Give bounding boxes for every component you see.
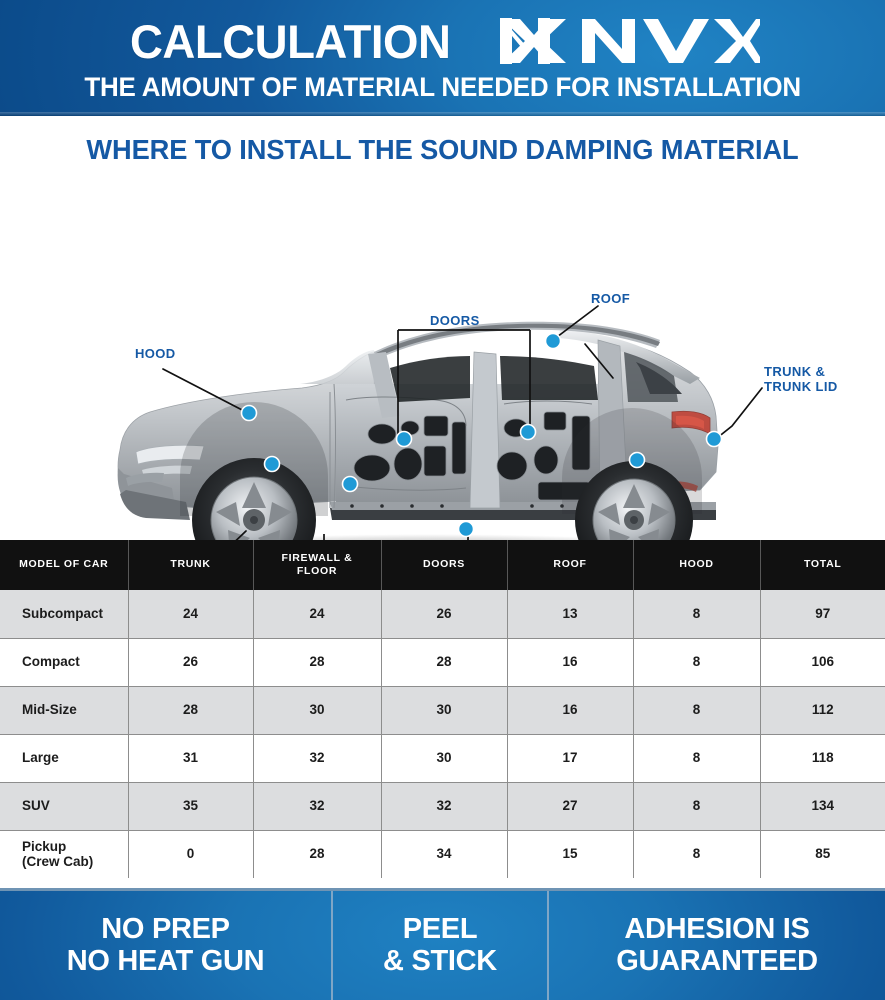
cell-hood: 8 [633, 590, 760, 638]
column-header-hood: HOOD [633, 540, 760, 590]
footer-cell-no-prep: NO PREP NO HEAT GUN [0, 891, 333, 1000]
cell-model-line1: Pickup [22, 839, 128, 855]
callout-trunk-line1: TRUNK & [764, 365, 838, 380]
cell-doors: 34 [381, 830, 507, 878]
column-header-doors-line1: DOORS [384, 558, 505, 571]
diagram-section: WHERE TO INSTALL THE SOUND DAMPING MATER… [0, 116, 885, 540]
table-row: Pickup (Crew Cab) 0 28 34 15 8 85 [0, 830, 885, 878]
table-row: Compact 26 28 28 16 8 106 [0, 638, 885, 686]
column-header-total: TOTAL [760, 540, 885, 590]
cell-model: Subcompact [0, 590, 128, 638]
cell-trunk: 26 [128, 638, 253, 686]
cell-model-line1: SUV [22, 798, 128, 814]
cell-hood: 8 [633, 830, 760, 878]
cell-doors: 26 [381, 590, 507, 638]
callout-doors: DOORS [430, 314, 480, 329]
cell-hood: 8 [633, 734, 760, 782]
cell-model-line1: Subcompact [22, 606, 128, 622]
cell-trunk: 0 [128, 830, 253, 878]
cell-firewall-floor: 28 [253, 638, 381, 686]
column-header-total-line1: TOTAL [763, 558, 884, 571]
cell-trunk: 31 [128, 734, 253, 782]
table-header-row: MODEL OF CAR TRUNK FIREWALL & FLOOR DOOR… [0, 540, 885, 590]
cell-model: Large [0, 734, 128, 782]
column-header-hood-line1: HOOD [636, 558, 758, 571]
cell-model-line1: Compact [22, 654, 128, 670]
footer-adhesion-line2: GUARANTEED [616, 946, 818, 977]
callout-roof: ROOF [591, 292, 630, 307]
header-title-row: CALCULATION [0, 10, 885, 72]
callout-hood: HOOD [135, 347, 176, 362]
column-header-doors: DOORS [381, 540, 507, 590]
footer-peel-line1: PEEL [403, 914, 478, 945]
column-header-roof-line1: ROOF [510, 558, 631, 571]
column-header-model-line1: MODEL OF CAR [2, 558, 126, 571]
cell-roof: 15 [507, 830, 633, 878]
column-header-roof: ROOF [507, 540, 633, 590]
cell-total: 112 [760, 686, 885, 734]
cell-model: Pickup (Crew Cab) [0, 830, 128, 878]
cell-hood: 8 [633, 782, 760, 830]
cell-roof: 17 [507, 734, 633, 782]
cell-doors: 32 [381, 782, 507, 830]
footer-adhesion-line1: ADHESION IS [624, 914, 809, 945]
footer-cell-peel-stick: PEEL & STICK [333, 891, 549, 1000]
footer-cell-adhesion: ADHESION IS GUARANTEED [549, 891, 885, 1000]
cell-firewall-floor: 24 [253, 590, 381, 638]
cell-doors: 28 [381, 638, 507, 686]
column-header-firewall-line1: FIREWALL & [256, 552, 379, 565]
cell-model-line2: (Crew Cab) [22, 854, 128, 870]
column-header-model: MODEL OF CAR [0, 540, 128, 590]
cell-total: 106 [760, 638, 885, 686]
cell-roof: 13 [507, 590, 633, 638]
cell-roof: 16 [507, 638, 633, 686]
table-row: Large 31 32 30 17 8 118 [0, 734, 885, 782]
cell-total: 134 [760, 782, 885, 830]
cell-total: 85 [760, 830, 885, 878]
cell-trunk: 35 [128, 782, 253, 830]
page-title: CALCULATION [130, 18, 451, 65]
column-header-firewall-floor: FIREWALL & FLOOR [253, 540, 381, 590]
page-header: CALCULATION [0, 0, 885, 116]
cell-model: Mid-Size [0, 686, 128, 734]
footer-banner: NO PREP NO HEAT GUN PEEL & STICK ADHESIO… [0, 888, 885, 1000]
cell-hood: 8 [633, 686, 760, 734]
cell-total: 97 [760, 590, 885, 638]
cell-hood: 8 [633, 638, 760, 686]
footer-no-prep-line2: NO HEAT GUN [67, 946, 265, 977]
table-row: Subcompact 24 24 26 13 8 97 [0, 590, 885, 638]
cell-firewall-floor: 32 [253, 782, 381, 830]
cell-firewall-floor: 28 [253, 830, 381, 878]
cell-doors: 30 [381, 734, 507, 782]
infographic-page: CALCULATION [0, 0, 885, 1000]
material-table-container: MODEL OF CAR TRUNK FIREWALL & FLOOR DOOR… [0, 540, 885, 885]
header-subtitle-row: THE AMOUNT OF MATERIAL NEEDED FOR INSTAL… [0, 72, 885, 103]
callout-trunk: TRUNK & TRUNK LID [764, 365, 838, 394]
page-subtitle: THE AMOUNT OF MATERIAL NEEDED FOR INSTAL… [84, 72, 801, 103]
cell-model-line1: Large [22, 750, 128, 766]
cell-model-line1: Mid-Size [22, 702, 128, 718]
callout-trunk-line2: TRUNK LID [764, 380, 838, 395]
column-header-firewall-line2: FLOOR [256, 565, 379, 578]
cell-firewall-floor: 32 [253, 734, 381, 782]
column-header-trunk-line1: TRUNK [131, 558, 251, 571]
cell-total: 118 [760, 734, 885, 782]
material-table: MODEL OF CAR TRUNK FIREWALL & FLOOR DOOR… [0, 540, 885, 878]
cell-model: Compact [0, 638, 128, 686]
cell-firewall-floor: 30 [253, 686, 381, 734]
column-header-trunk: TRUNK [128, 540, 253, 590]
footer-no-prep-line1: NO PREP [101, 914, 229, 945]
cell-roof: 27 [507, 782, 633, 830]
brand-logo [498, 16, 760, 66]
cell-doors: 30 [381, 686, 507, 734]
cell-trunk: 28 [128, 686, 253, 734]
cell-trunk: 24 [128, 590, 253, 638]
cell-model: SUV [0, 782, 128, 830]
cell-roof: 16 [507, 686, 633, 734]
footer-peel-line2: & STICK [383, 946, 497, 977]
table-row: Mid-Size 28 30 30 16 8 112 [0, 686, 885, 734]
table-row: SUV 35 32 32 27 8 134 [0, 782, 885, 830]
